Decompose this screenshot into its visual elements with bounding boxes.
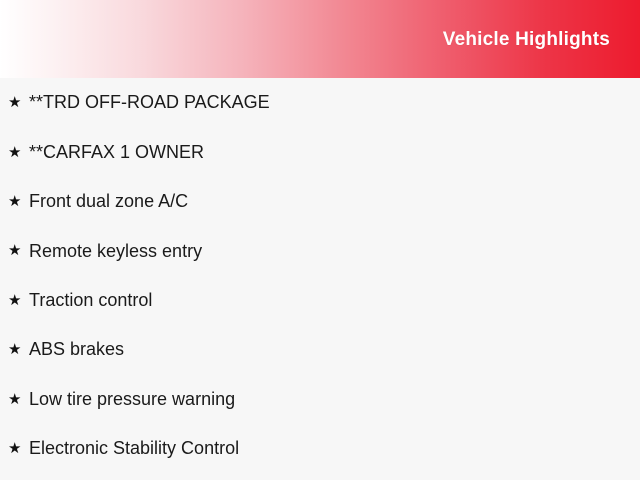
list-item-label: Low tire pressure warning [29, 389, 235, 410]
vehicle-highlights-list: ★ **TRD OFF-ROAD PACKAGE ★ **CARFAX 1 OW… [0, 78, 640, 480]
list-item: ★ **TRD OFF-ROAD PACKAGE [0, 78, 640, 127]
list-item: ★ **CARFAX 1 OWNER [0, 127, 640, 176]
list-item: ★ ABS brakes [0, 325, 640, 374]
list-item-label: Front dual zone A/C [29, 191, 188, 212]
list-item-label: **TRD OFF-ROAD PACKAGE [29, 92, 270, 113]
star-icon: ★ [8, 243, 29, 258]
star-icon: ★ [8, 342, 29, 357]
list-item: ★ Electronic Stability Control [0, 424, 640, 473]
star-icon: ★ [8, 145, 29, 160]
list-item-label: ABS brakes [29, 339, 124, 360]
header-banner: Vehicle Highlights [0, 0, 640, 78]
list-item-label: Remote keyless entry [29, 241, 202, 262]
list-item-label: Electronic Stability Control [29, 438, 239, 459]
star-icon: ★ [8, 293, 29, 308]
list-item-label: Traction control [29, 290, 152, 311]
page-title: Vehicle Highlights [443, 30, 610, 49]
list-item: ★ Remote keyless entry [0, 226, 640, 275]
list-item: ★ Low tire pressure warning [0, 374, 640, 423]
star-icon: ★ [8, 392, 29, 407]
star-icon: ★ [8, 441, 29, 456]
list-item: ★ Front dual zone A/C [0, 177, 640, 226]
list-item-label: **CARFAX 1 OWNER [29, 142, 204, 163]
list-item: ★ Traction control [0, 276, 640, 325]
star-icon: ★ [8, 194, 29, 209]
vehicle-highlights-panel: Vehicle Highlights ★ **TRD OFF-ROAD PACK… [0, 0, 640, 480]
star-icon: ★ [8, 95, 29, 110]
